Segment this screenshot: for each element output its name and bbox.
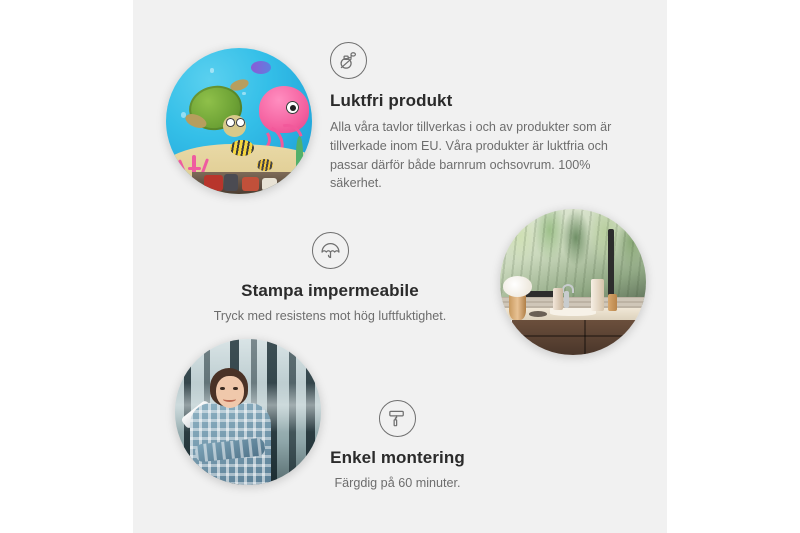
feature-waterproof-print: Stampa impermeabile Tryck med resistens … <box>180 232 480 326</box>
image-bathroom-tropical <box>500 209 646 355</box>
paint-roller-icon <box>379 400 416 437</box>
feature-title: Enkel montering <box>265 448 530 468</box>
image-underwater-scene <box>166 48 312 194</box>
feature-easy-mounting: Enkel montering Färgdig på 60 minuter. <box>265 400 530 493</box>
feature-odour-free: Luktfri produkt Alla våra tavlor tillver… <box>330 42 630 193</box>
feature-body: Tryck med resistens mot hög luftfuktighe… <box>180 307 480 326</box>
no-fragrance-icon <box>330 42 367 79</box>
feature-title: Luktfri produkt <box>330 91 630 111</box>
promo-banner: Luktfri produkt Alla våra tavlor tillver… <box>0 0 800 533</box>
feature-body: Färgdig på 60 minuter. <box>265 474 530 493</box>
feature-body: Alla våra tavlor tillverkas i och av pro… <box>330 118 630 193</box>
feature-title: Stampa impermeabile <box>180 281 480 301</box>
umbrella-icon <box>312 232 349 269</box>
